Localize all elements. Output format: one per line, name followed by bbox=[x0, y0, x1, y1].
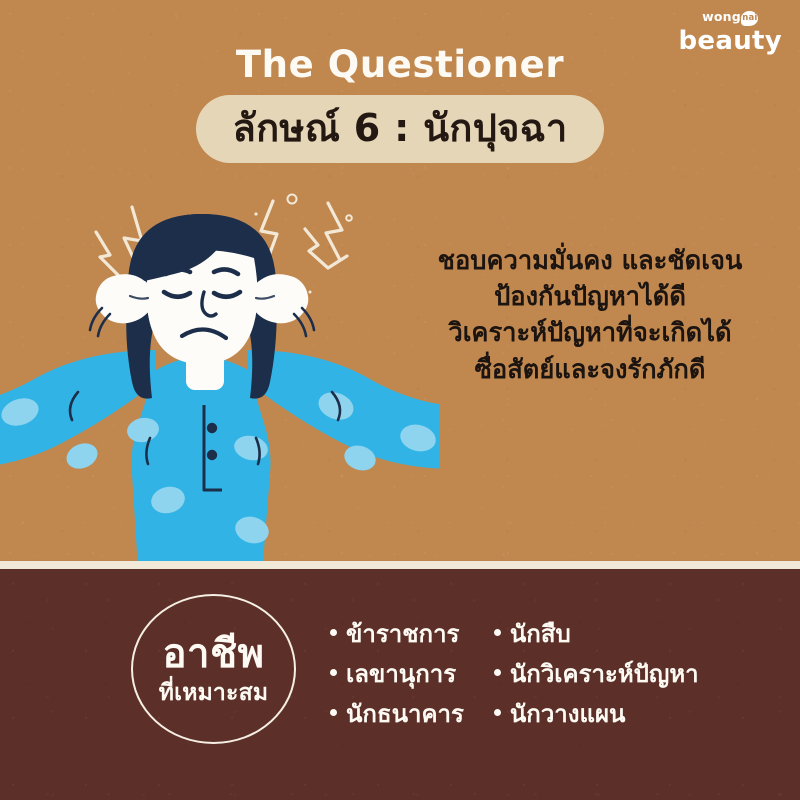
career-badge: อาชีพ ที่เหมาะสม bbox=[131, 594, 296, 744]
woman-covering-ears-illustration bbox=[0, 200, 440, 567]
brand-logo: wongnai beauty bbox=[679, 8, 782, 54]
bullet-dot-icon bbox=[494, 709, 501, 716]
career-label: นักธนาคาร bbox=[346, 702, 464, 728]
career-badge-subtitle: ที่เหมาะสม bbox=[159, 682, 268, 705]
logo-nai-badge: nai bbox=[741, 11, 758, 26]
infographic-poster: wongnai beauty The Questioner ลักษณ์ 6 :… bbox=[0, 0, 800, 800]
trait-line: วิเคราะห์ปัญหาที่จะเกิดได้ bbox=[400, 315, 780, 351]
list-item: ข้าราชการ bbox=[330, 622, 464, 648]
list-item: นักสืบ bbox=[494, 622, 699, 648]
career-label: นักสืบ bbox=[510, 622, 571, 648]
career-label: นักวางแผน bbox=[510, 702, 626, 728]
logo-beauty-text: beauty bbox=[679, 28, 782, 54]
career-lists: ข้าราชการ เลขานุการ นักธนาคาร นักสืบ นัก… bbox=[330, 622, 699, 728]
title-pill: ลักษณ์ 6 : นักปุจฉา bbox=[196, 95, 604, 163]
list-item: เลขานุการ bbox=[330, 662, 464, 688]
list-item: นักธนาคาร bbox=[330, 702, 464, 728]
traits-list: ชอบความมั่นคง และชัดเจน ป้องกันปัญหาได้ด… bbox=[400, 243, 780, 388]
list-item: นักวิเคราะห์ปัญหา bbox=[494, 662, 699, 688]
career-column-right: นักสืบ นักวิเคราะห์ปัญหา นักวางแผน bbox=[494, 622, 699, 728]
list-item: นักวางแผน bbox=[494, 702, 699, 728]
logo-wordmark-top: wongnai bbox=[702, 10, 758, 25]
bullet-dot-icon bbox=[494, 629, 501, 636]
career-badge-title: อาชีพ bbox=[163, 634, 265, 674]
career-column-left: ข้าราชการ เลขานุการ นักธนาคาร bbox=[330, 622, 464, 728]
career-label: ข้าราชการ bbox=[346, 622, 459, 648]
career-label: เลขานุการ bbox=[346, 662, 456, 688]
bullet-dot-icon bbox=[330, 709, 337, 716]
bullet-dot-icon bbox=[330, 629, 337, 636]
trait-line: ชอบความมั่นคง และชัดเจน bbox=[400, 243, 780, 279]
career-label: นักวิเคราะห์ปัญหา bbox=[510, 662, 699, 688]
logo-word: wong bbox=[702, 11, 741, 24]
trait-line: ซื่อสัตย์และจงรักภักดี bbox=[400, 352, 780, 388]
trait-line: ป้องกันปัญหาได้ดี bbox=[400, 279, 780, 315]
page-title: ลักษณ์ 6 : นักปุจฉา bbox=[232, 109, 567, 147]
bullet-dot-icon bbox=[494, 669, 501, 676]
bullet-dot-icon bbox=[330, 669, 337, 676]
section-divider bbox=[0, 561, 800, 569]
top-panel: wongnai beauty The Questioner ลักษณ์ 6 :… bbox=[0, 0, 800, 567]
